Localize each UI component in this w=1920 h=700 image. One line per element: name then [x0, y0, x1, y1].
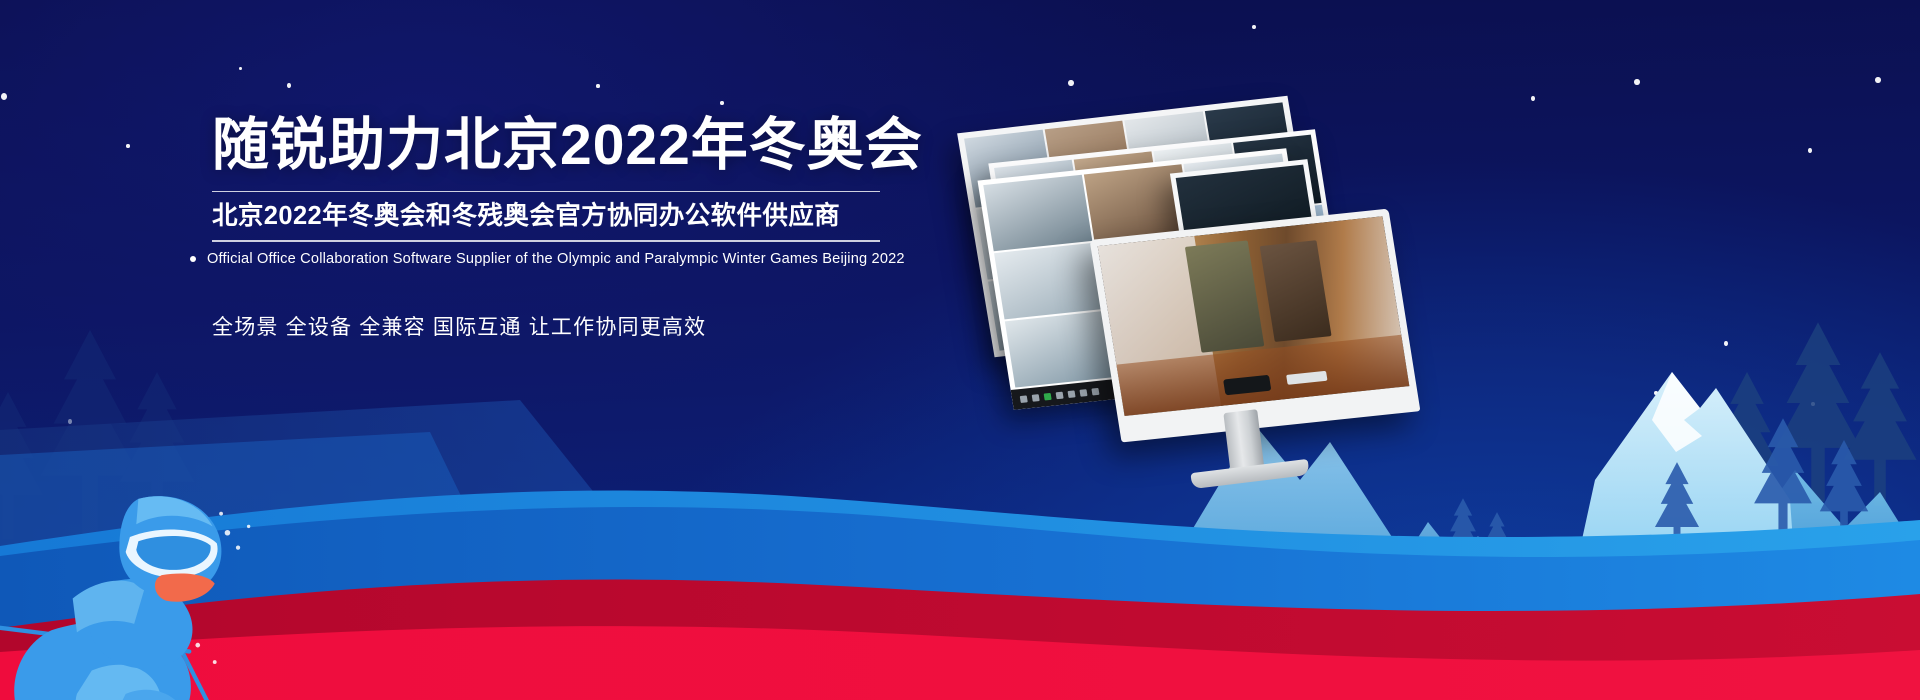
- skier-layer: [0, 0, 1920, 700]
- banner-root: 会议录制: [0, 0, 1920, 700]
- alpine-skier-illustration: [0, 496, 263, 700]
